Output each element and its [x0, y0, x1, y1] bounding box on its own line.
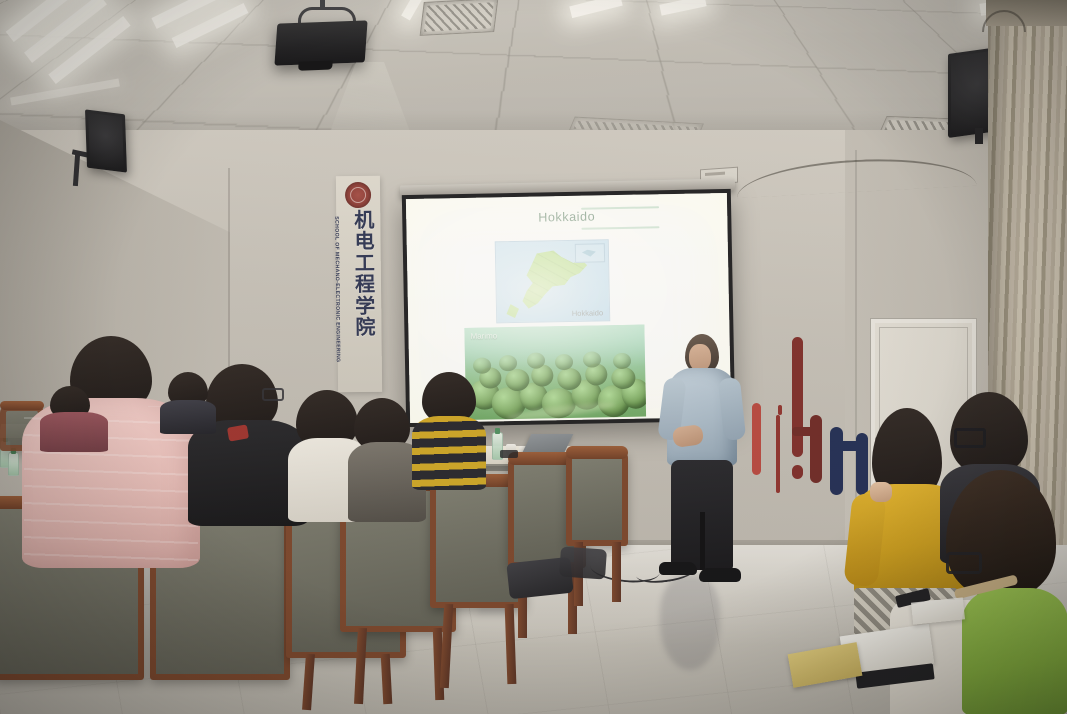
- lecture-hall-photo: Hokkaido Hokkaido: [0, 0, 1067, 714]
- map-caption: Hokkaido: [572, 308, 603, 318]
- attendee-back-row: [40, 386, 108, 446]
- attendee-shirt: [412, 416, 486, 490]
- attendee-glasses-icon: [946, 552, 982, 574]
- map-inset: [575, 243, 605, 263]
- logo-bar: [778, 405, 782, 415]
- presenter-leg-split: [700, 512, 705, 570]
- wall-speaker-icon: [85, 109, 127, 172]
- smartphone[interactable]: [500, 450, 518, 458]
- presenter-shoe-right: [699, 568, 741, 582]
- banner-english-text: SCHOOL OF MECHANO-ELECTRONIC ENGINEERING: [333, 216, 341, 366]
- projector-icon: [274, 20, 367, 65]
- map-islet: [505, 304, 519, 318]
- logo-bar: [792, 337, 803, 457]
- marimo-label: Marimo: [470, 331, 497, 341]
- slide-title: Hokkaido: [406, 207, 727, 227]
- logo-bar: [776, 415, 780, 493]
- attendee-striped-top: [412, 372, 486, 484]
- attendee-blouse: [962, 588, 1067, 714]
- logo-bar: [792, 427, 822, 436]
- attendee-far-back: [160, 372, 216, 430]
- logo-bar: [830, 427, 843, 495]
- attendee-green-top: [940, 470, 1067, 714]
- hvac-vent-icon: [420, 0, 499, 36]
- attendee-glasses-icon: [954, 428, 986, 448]
- marimo-photo: Marimo: [464, 325, 646, 420]
- logo-bar: [792, 465, 803, 479]
- slide-title-rule: [581, 226, 659, 229]
- presenter-face: [689, 344, 711, 371]
- banner-chinese-text: 机电工程学院: [350, 210, 379, 339]
- projector-stem: [320, 0, 325, 10]
- hokkaido-map-image: Hokkaido: [495, 239, 611, 323]
- presenter-shoe-left: [659, 562, 697, 575]
- logo-bar: [752, 403, 761, 475]
- bag[interactable]: [559, 546, 607, 579]
- attendee-glasses-icon: [262, 388, 284, 401]
- attendee-shirt: [160, 400, 216, 434]
- speaker-bracket: [975, 128, 983, 144]
- attendee-hand: [870, 482, 892, 502]
- attendee-shirt: [40, 412, 108, 452]
- department-banner: 机电工程学院 SCHOOL OF MECHANO-ELECTRONIC ENGI…: [336, 176, 382, 392]
- logo-bar: [810, 415, 822, 483]
- university-emblem-icon: [345, 182, 371, 208]
- presenter: [655, 334, 747, 592]
